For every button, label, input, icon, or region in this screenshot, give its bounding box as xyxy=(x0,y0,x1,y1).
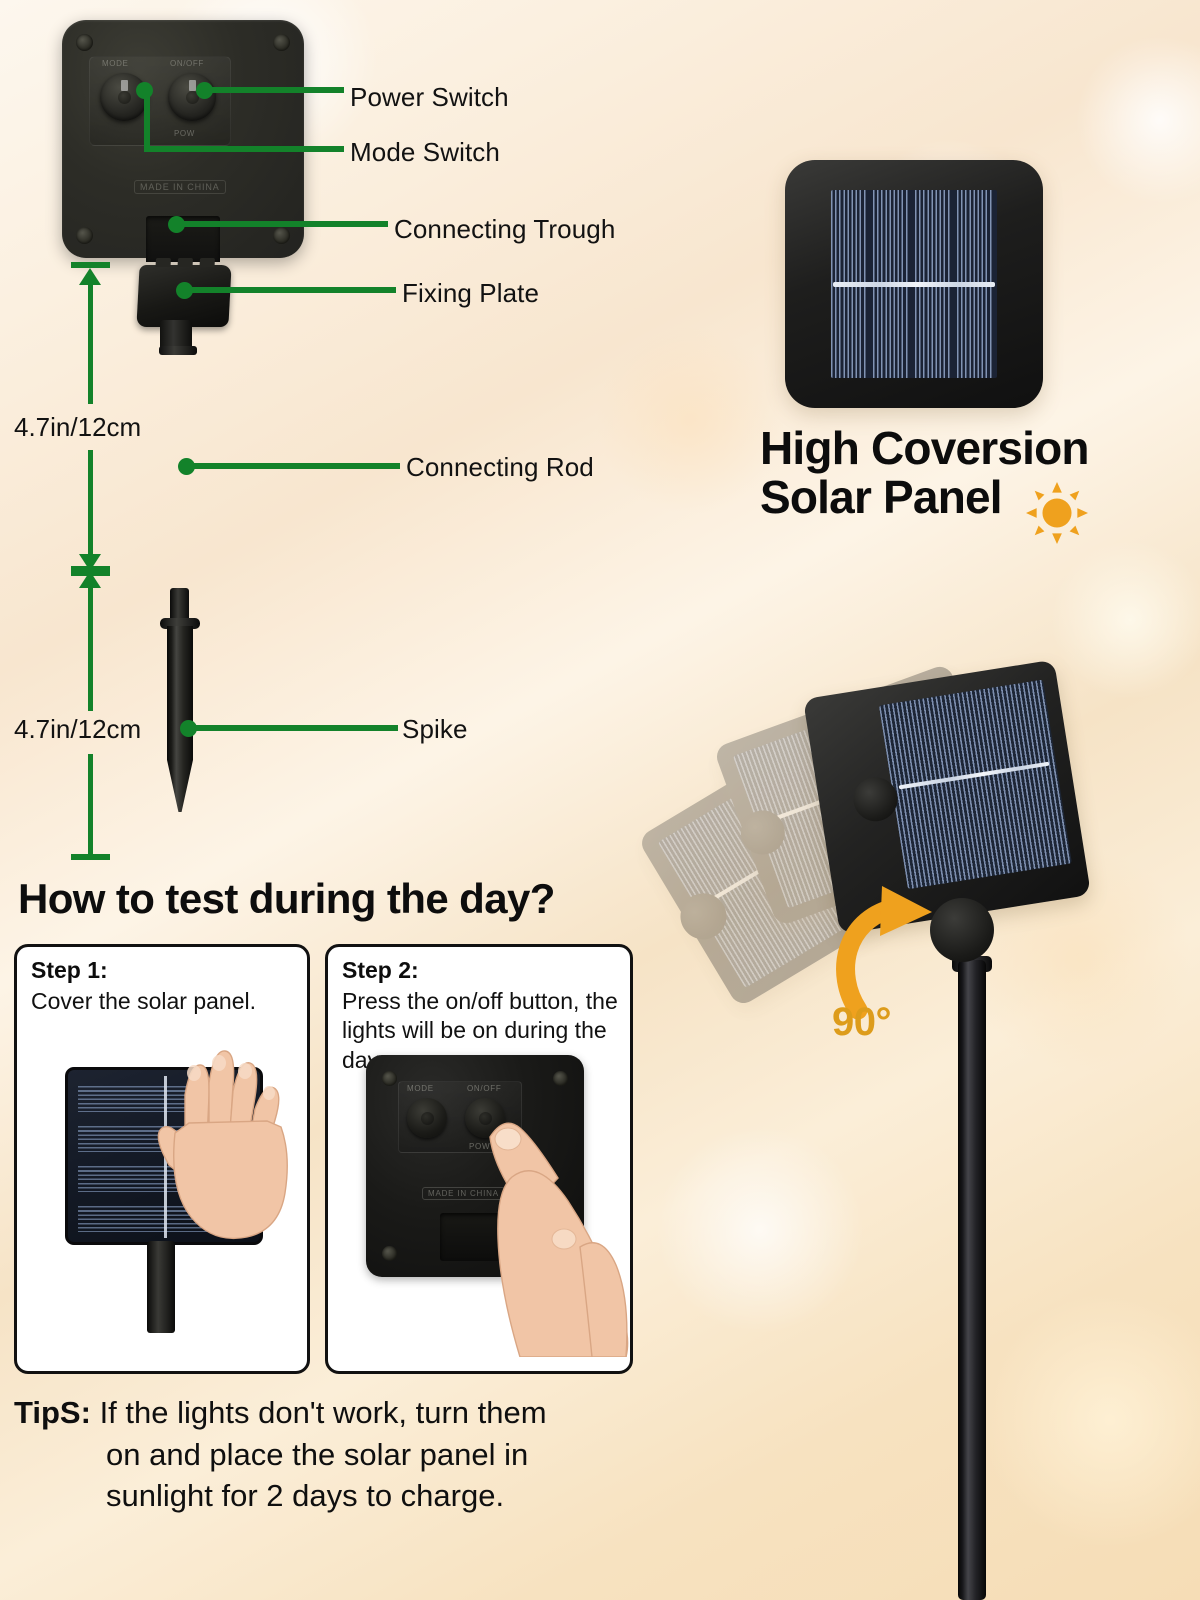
dim-stem-upper xyxy=(88,587,93,711)
tips-text-3: sunlight for 2 days to charge. xyxy=(14,1475,664,1517)
callout-label-mode-switch: Mode Switch xyxy=(350,137,500,168)
step-card-1: Step 1: Cover the solar panel. xyxy=(14,944,310,1374)
dim-arrow-top-icon xyxy=(79,571,101,588)
screw-top-right-icon xyxy=(273,34,290,51)
tips-label: TipS: xyxy=(14,1395,91,1430)
tips-line-1: TipS: If the lights don't work, turn the… xyxy=(14,1392,664,1434)
solar-busbar-icon xyxy=(833,282,995,287)
callout-label-power-switch: Power Switch xyxy=(350,82,509,113)
solar-panel-hero-photo xyxy=(785,160,1043,408)
screw-bottom-left-icon xyxy=(382,1246,397,1261)
callout-label-fixing-plate: Fixing Plate xyxy=(402,278,539,309)
lamp-pole xyxy=(958,960,986,1600)
solar-feature-line-2: Solar Panel xyxy=(760,473,1190,522)
mode-marking: MODE xyxy=(407,1084,434,1093)
spike-head xyxy=(170,588,189,622)
spike-wire xyxy=(188,725,398,731)
callout-label-spike: Spike xyxy=(402,714,468,745)
solar-cell-grid-active xyxy=(879,680,1072,890)
dim-cap-bottom-icon xyxy=(71,854,110,860)
connecting-rod xyxy=(163,348,193,560)
screw-top-left-icon xyxy=(382,1071,397,1086)
mode-marking: MODE xyxy=(102,59,128,68)
fixing-plate-tab-icon xyxy=(200,258,215,267)
made-in-china-marking: MADE IN CHINA xyxy=(134,180,226,194)
screw-bottom-right-icon xyxy=(273,227,290,244)
dimension-label-spike: 4.7in/12cm xyxy=(14,714,141,745)
callout-label-connecting-trough: Connecting Trough xyxy=(394,214,615,245)
hand-covering-panel-icon xyxy=(127,1047,307,1277)
step-card-2: Step 2: Press the on/off button, the lig… xyxy=(325,944,633,1374)
switch-plate: MODE ON/OFF POW xyxy=(89,56,231,146)
dim-stem-upper xyxy=(88,284,93,404)
solar-feature-line-1: High Coversion xyxy=(760,424,1190,473)
mode-switch-knob[interactable] xyxy=(407,1098,447,1138)
tips-block: TipS: If the lights don't work, turn the… xyxy=(14,1392,664,1517)
tips-text-2: on and place the solar panel in xyxy=(14,1434,664,1476)
dim-stem-lower xyxy=(88,754,93,858)
screw-bottom-left-icon xyxy=(76,227,93,244)
rotation-angle-label: 90° xyxy=(832,1000,891,1045)
fixing-plate-tab-icon xyxy=(178,258,193,267)
hand-pressing-button-icon xyxy=(468,1057,633,1357)
solar-cell-grid xyxy=(831,190,997,378)
callout-label-connecting-rod: Connecting Rod xyxy=(406,452,594,483)
infographic-page: MODE ON/OFF POW MADE IN CHINA Power Swit… xyxy=(0,0,1200,1600)
fixing-plate-tab-icon xyxy=(156,258,171,267)
step-2-heading: Step 2: xyxy=(342,957,419,984)
onoff-marking: ON/OFF xyxy=(170,59,204,68)
sun-icon xyxy=(1026,482,1088,544)
power-switch-wire xyxy=(204,87,344,93)
dimension-label-rod: 4.7in/12cm xyxy=(14,412,141,443)
mode-switch-wire-vertical xyxy=(144,90,150,148)
step-1-heading: Step 1: xyxy=(31,957,108,984)
fixing-plate-wire xyxy=(184,287,396,293)
ground-spike xyxy=(167,626,193,812)
screw-top-left-icon xyxy=(76,34,93,51)
dim-stem-lower xyxy=(88,450,93,556)
rotation-demo-stage xyxy=(660,660,1200,1600)
connecting-rod-wire xyxy=(186,463,400,469)
solar-panel-feature-title: High Coversion Solar Panel xyxy=(760,424,1190,522)
step-1-body: Cover the solar panel. xyxy=(31,987,299,1016)
connecting-trough-wire xyxy=(176,221,388,227)
test-section-title: How to test during the day? xyxy=(18,875,555,923)
tips-text-1: If the lights don't work, turn them xyxy=(100,1395,547,1430)
dim-arrow-top-icon xyxy=(79,268,101,285)
mode-switch-wire-horizontal xyxy=(144,146,344,152)
pow-marking: POW xyxy=(174,129,195,138)
